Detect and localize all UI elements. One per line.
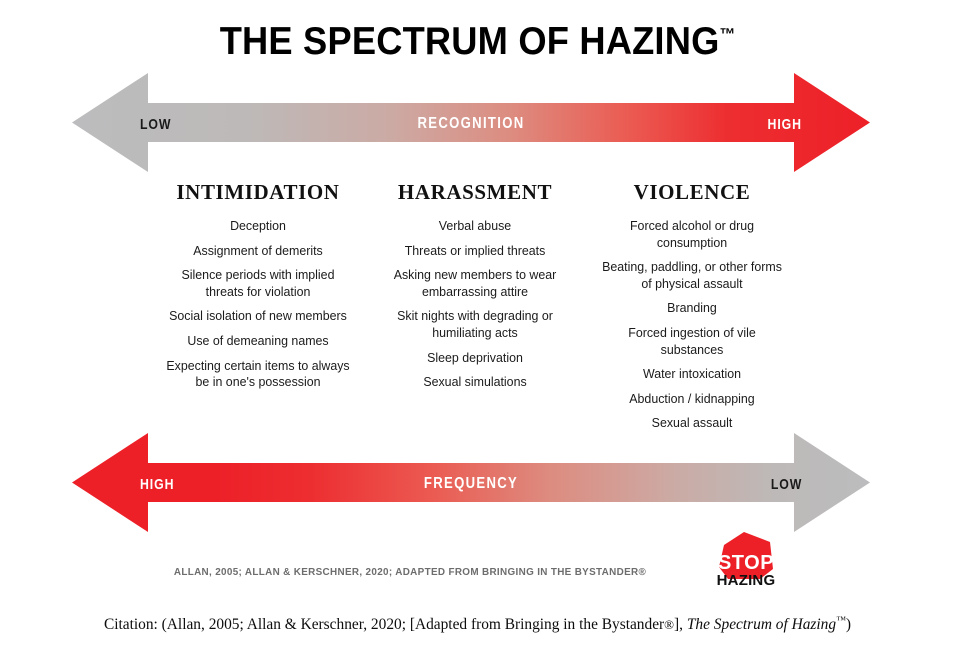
stop-hazing-logo: STOP HAZING bbox=[710, 529, 786, 589]
list-item: Expecting certain items to always be in … bbox=[166, 358, 350, 391]
list-item: Forced alcohol or drug consumption bbox=[600, 218, 784, 251]
hazing-categories: INTIMIDATION Deception Assignment of dem… bbox=[160, 180, 790, 440]
spectrum-of-hazing-poster: THE SPECTRUM OF HAZING™ LOW RECOGNITION … bbox=[0, 0, 955, 663]
citation-lead: Citation: (Allan, 2005; Allan & Kerschne… bbox=[104, 616, 664, 633]
registered-mark: ® bbox=[664, 617, 674, 632]
list-item: Deception bbox=[166, 218, 350, 235]
frequency-axis-label: FREQUENCY bbox=[136, 476, 807, 492]
list-item: Use of demeaning names bbox=[166, 333, 350, 350]
page-title-text: THE SPECTRUM OF HAZING bbox=[220, 20, 720, 63]
list-item: Social isolation of new members bbox=[166, 308, 350, 325]
recognition-high-label: HIGH bbox=[768, 117, 802, 132]
category-column-harassment: HARASSMENT Verbal abuse Threats or impli… bbox=[377, 180, 573, 399]
recognition-axis-arrow: LOW RECOGNITION HIGH bbox=[62, 70, 880, 178]
list-item: Branding bbox=[600, 300, 784, 317]
frequency-axis-arrow: HIGH FREQUENCY LOW bbox=[62, 430, 880, 538]
category-item-list: Verbal abuse Threats or implied threats … bbox=[377, 218, 573, 391]
recognition-axis-label: RECOGNITION bbox=[136, 116, 807, 132]
list-item: Skit nights with degrading or humiliatin… bbox=[383, 308, 567, 341]
list-item: Forced ingestion of vile substances bbox=[600, 325, 784, 358]
citation-trademark-mark: ™ bbox=[836, 615, 846, 626]
citation-tail: ) bbox=[846, 616, 851, 633]
list-item: Asking new members to wear embarrassing … bbox=[383, 267, 567, 300]
citation-line: Citation: (Allan, 2005; Allan & Kerschne… bbox=[0, 615, 955, 634]
list-item: Beating, paddling, or other forms of phy… bbox=[600, 259, 784, 292]
category-heading: VIOLENCE bbox=[594, 180, 790, 205]
list-item: Assignment of demerits bbox=[166, 243, 350, 260]
list-item: Water intoxication bbox=[600, 366, 784, 383]
list-item: Sleep deprivation bbox=[383, 350, 567, 367]
attribution-line: ALLAN, 2005; ALLAN & KERSCHNER, 2020; AD… bbox=[119, 567, 701, 578]
category-item-list: Forced alcohol or drug consumption Beati… bbox=[594, 218, 790, 432]
list-item: Sexual simulations bbox=[383, 374, 567, 391]
hazing-word: HAZING bbox=[717, 572, 776, 589]
trademark-symbol: ™ bbox=[719, 25, 735, 44]
citation-middle: ], bbox=[674, 616, 687, 633]
frequency-low-label: LOW bbox=[771, 477, 802, 492]
stop-word: STOP bbox=[718, 552, 774, 574]
list-item: Abduction / kidnapping bbox=[600, 391, 784, 408]
list-item: Threats or implied threats bbox=[383, 243, 567, 260]
category-column-violence: VIOLENCE Forced alcohol or drug consumpt… bbox=[594, 180, 790, 440]
stop-sign-icon: STOP HAZING bbox=[710, 529, 786, 589]
category-column-intimidation: INTIMIDATION Deception Assignment of dem… bbox=[160, 180, 356, 399]
list-item: Verbal abuse bbox=[383, 218, 567, 235]
citation-work-title: The Spectrum of Hazing bbox=[687, 616, 836, 633]
category-heading: INTIMIDATION bbox=[160, 180, 356, 205]
page-title: THE SPECTRUM OF HAZING™ bbox=[33, 20, 921, 64]
category-heading: HARASSMENT bbox=[377, 180, 573, 205]
category-item-list: Deception Assignment of demerits Silence… bbox=[160, 218, 356, 391]
list-item: Silence periods with implied threats for… bbox=[166, 267, 350, 300]
